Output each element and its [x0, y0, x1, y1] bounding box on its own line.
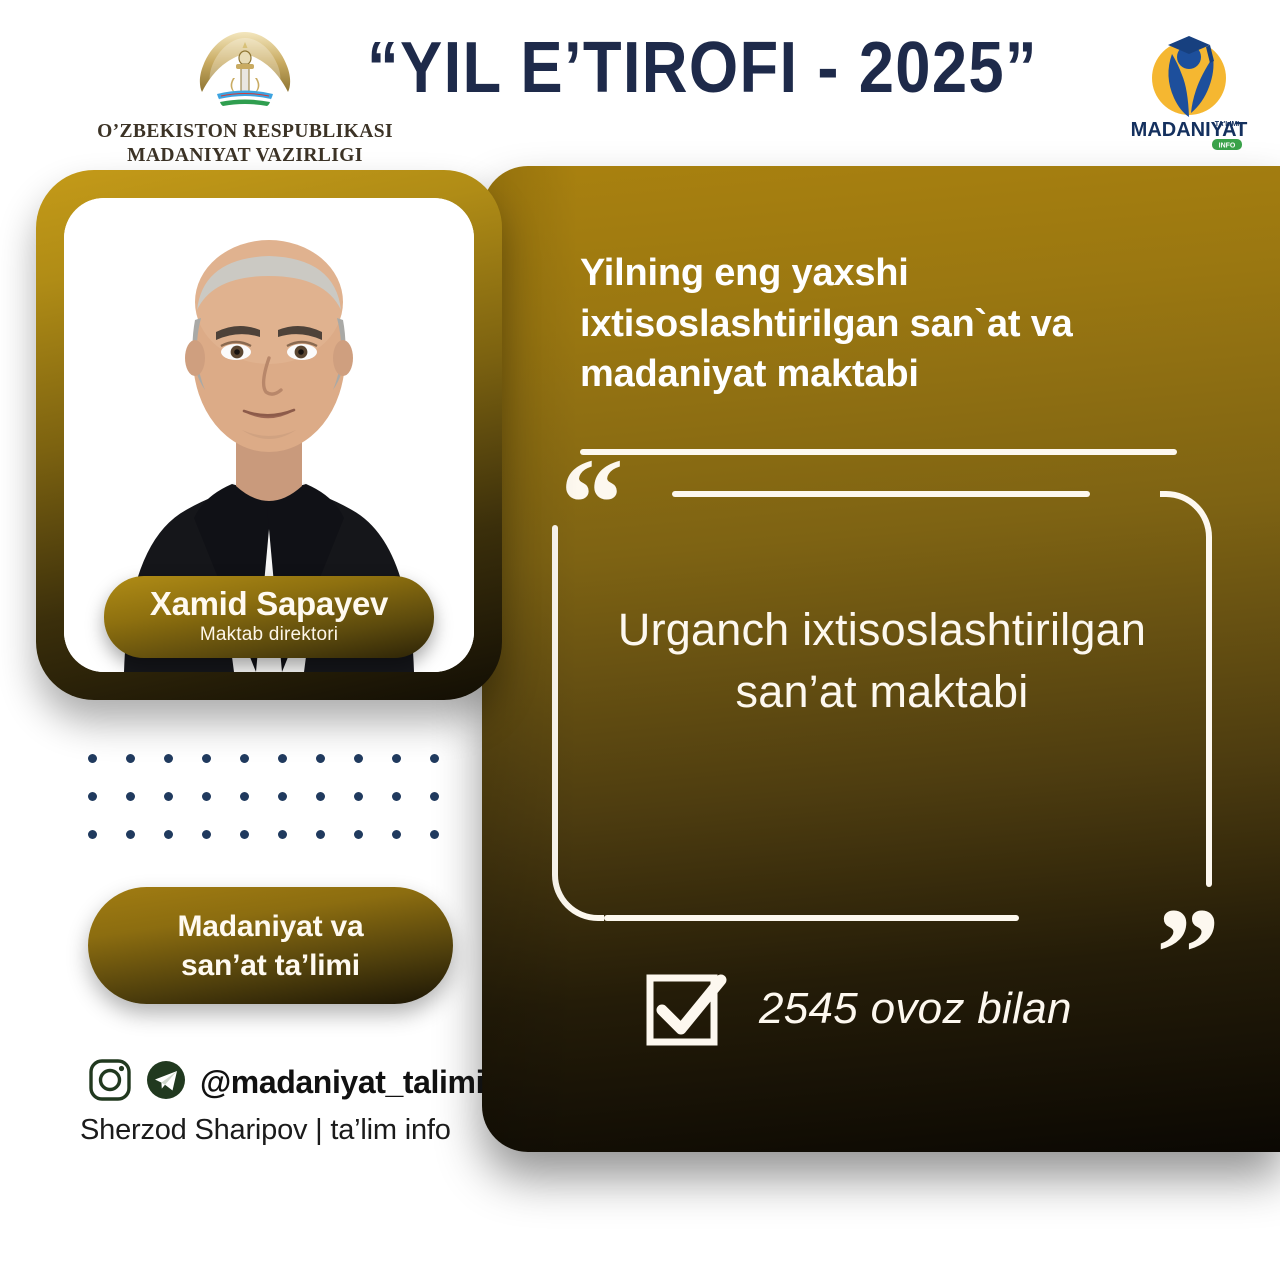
instagram-icon[interactable]	[88, 1058, 132, 1107]
svg-text:TA'LIMI: TA'LIMI	[1215, 121, 1240, 128]
dot	[278, 792, 287, 801]
vote-count-text: 2545 ovoz bilan	[759, 984, 1072, 1034]
poster-header: O’ZBEKISTON RESPUBLIKASI MADANIYAT VAZIR…	[0, 0, 1280, 170]
dot	[126, 830, 135, 839]
category-pill-line2: san’at ta’limi	[181, 949, 360, 982]
ministry-name-line2: MADANIYAT VAZIRLIGI	[60, 144, 430, 168]
quote-frame-right-line	[1206, 539, 1212, 887]
dot	[240, 754, 249, 763]
winner-name: Urganch ixtisoslashtirilgan san’at makta…	[612, 599, 1152, 723]
quote-frame-bottom-line	[604, 915, 1019, 921]
dot	[202, 754, 211, 763]
checkbox-checked-icon	[645, 966, 731, 1052]
ministry-name-line1: O’ZBEKISTON RESPUBLIKASI	[60, 120, 430, 144]
dot	[354, 754, 363, 763]
heading-divider	[580, 449, 1177, 455]
dot	[392, 792, 401, 801]
social-row: @madaniyat_talimi	[88, 1058, 484, 1107]
quote-frame: “ ” Urganch ixtisoslashtirilgan san’at m…	[552, 491, 1212, 921]
decorative-dot-grid	[88, 754, 468, 868]
dot	[164, 830, 173, 839]
quote-open-mark: “	[560, 439, 624, 567]
award-panel: Yilning eng yaxshi ixtisoslashtirilgan s…	[482, 166, 1280, 1152]
dot	[202, 830, 211, 839]
social-handle[interactable]: @madaniyat_talimi	[200, 1064, 484, 1101]
quote-frame-corner-top-right	[1160, 491, 1212, 543]
dot	[430, 792, 439, 801]
dot	[88, 792, 97, 801]
dot	[126, 792, 135, 801]
person-card: Xamid Sapayev Maktab direktori	[36, 170, 502, 700]
dot	[316, 792, 325, 801]
quote-close-mark: ”	[1156, 889, 1220, 1017]
dot	[278, 830, 287, 839]
dot	[354, 830, 363, 839]
dot	[88, 754, 97, 763]
quote-frame-top-line	[672, 491, 1090, 497]
dot	[164, 754, 173, 763]
dot	[316, 754, 325, 763]
person-name: Xamid Sapayev	[104, 586, 434, 623]
dot	[354, 792, 363, 801]
telegram-icon[interactable]	[144, 1058, 188, 1107]
dot	[392, 830, 401, 839]
quote-frame-corner-bottom-left	[552, 869, 604, 921]
dot	[164, 792, 173, 801]
dot	[240, 792, 249, 801]
dot	[392, 754, 401, 763]
dot	[88, 830, 97, 839]
dot	[430, 830, 439, 839]
dot	[316, 830, 325, 839]
dot	[278, 754, 287, 763]
dot	[240, 830, 249, 839]
svg-text:INFO: INFO	[1219, 143, 1236, 150]
poster-title: “YIL E’TIROFI - 2025”	[388, 20, 1017, 115]
dot	[430, 754, 439, 763]
quote-frame-left-line	[552, 525, 558, 873]
award-category-heading: Yilning eng yaxshi ixtisoslashtirilgan s…	[580, 248, 1200, 400]
poster-canvas: O’ZBEKISTON RESPUBLIKASI MADANIYAT VAZIR…	[0, 0, 1280, 1280]
dot	[126, 754, 135, 763]
category-pill-line1: Madaniyat va	[177, 910, 363, 943]
credit-line: Sherzod Sharipov | ta’lim info	[80, 1114, 451, 1147]
person-photo-frame: Xamid Sapayev Maktab direktori	[64, 198, 474, 672]
vote-count-row: 2545 ovoz bilan	[645, 966, 1072, 1052]
person-role: Maktab direktori	[104, 624, 434, 646]
category-pill[interactable]: Madaniyat va san’at ta’limi	[88, 887, 453, 1004]
person-name-plate: Xamid Sapayev Maktab direktori	[104, 576, 434, 658]
dot	[202, 792, 211, 801]
madaniyat-talimi-logo: MADANIYAT TA'LIMI INFO	[1128, 20, 1250, 156]
